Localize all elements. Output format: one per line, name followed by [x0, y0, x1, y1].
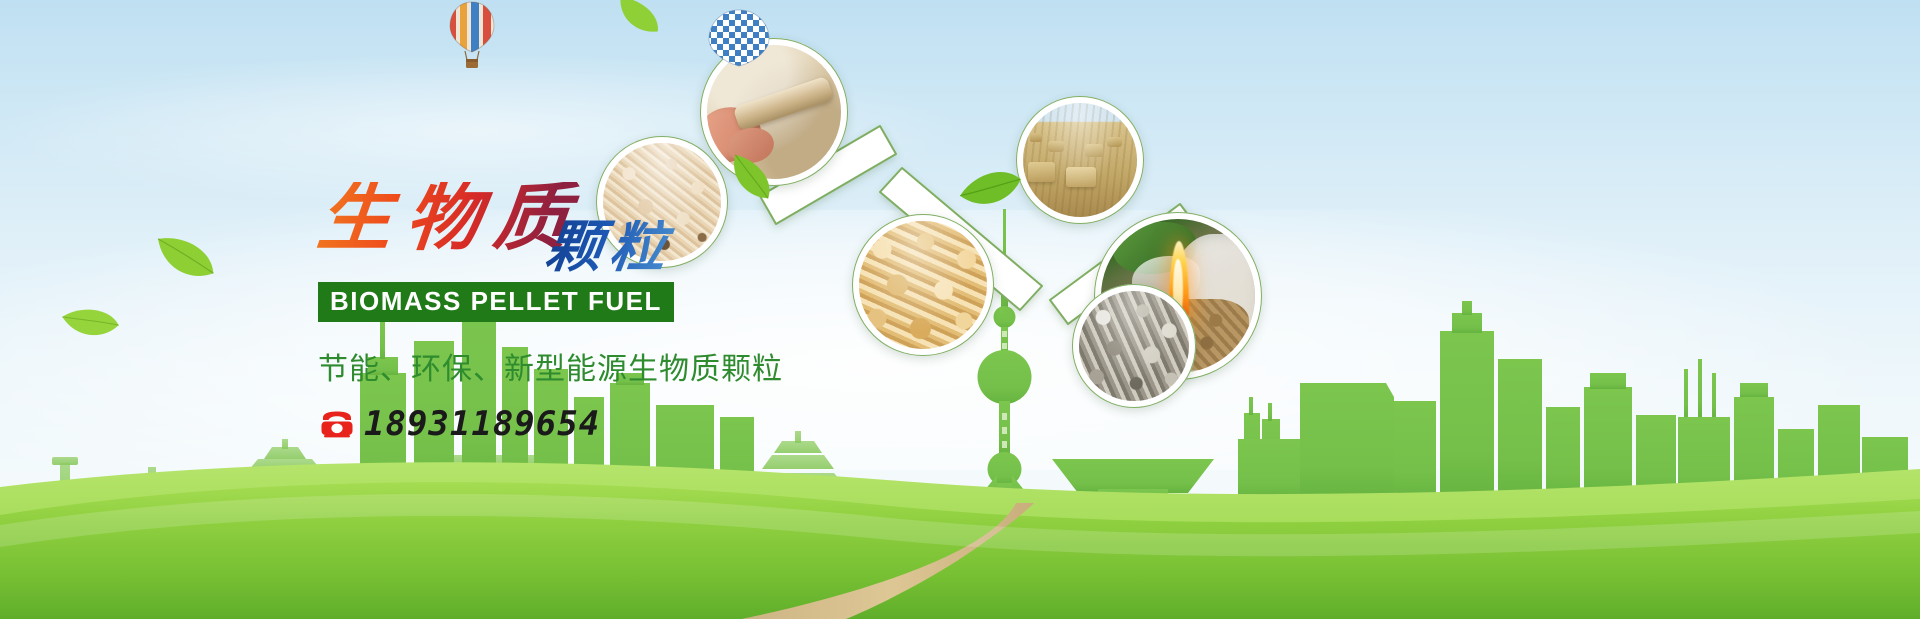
chinese-headline: 生物质 颗粒 — [318, 182, 938, 274]
biomass-banner: 生物质 颗粒 BIOMASS PELLET FUEL 节能、环保、新型能源生物质… — [0, 0, 1920, 619]
phone-number: 18931189654 — [364, 404, 600, 444]
node-straw-bales-photo — [1023, 103, 1137, 217]
grass-field — [0, 429, 1920, 619]
node-ash-chips-photo — [1079, 291, 1189, 401]
node-straw-bales[interactable] — [1016, 96, 1144, 224]
subtitle: 节能、环保、新型能源生物质颗粒 — [318, 344, 938, 388]
chinese-headline-main: 生物质 — [314, 182, 586, 256]
telephone-icon — [320, 411, 354, 438]
chinese-headline-accent: 颗粒 — [542, 220, 678, 276]
hot-air-balloon-icon — [447, 0, 497, 72]
headline-block: 生物质 颗粒 BIOMASS PELLET FUEL 节能、环保、新型能源生物质… — [318, 182, 938, 444]
contact-row[interactable]: 18931189654 — [320, 404, 938, 444]
english-badge: BIOMASS PELLET FUEL — [318, 282, 674, 322]
hot-air-balloon-icon — [705, 8, 773, 70]
leaf-icon — [607, 0, 668, 43]
node-ash-chips[interactable] — [1072, 284, 1196, 408]
